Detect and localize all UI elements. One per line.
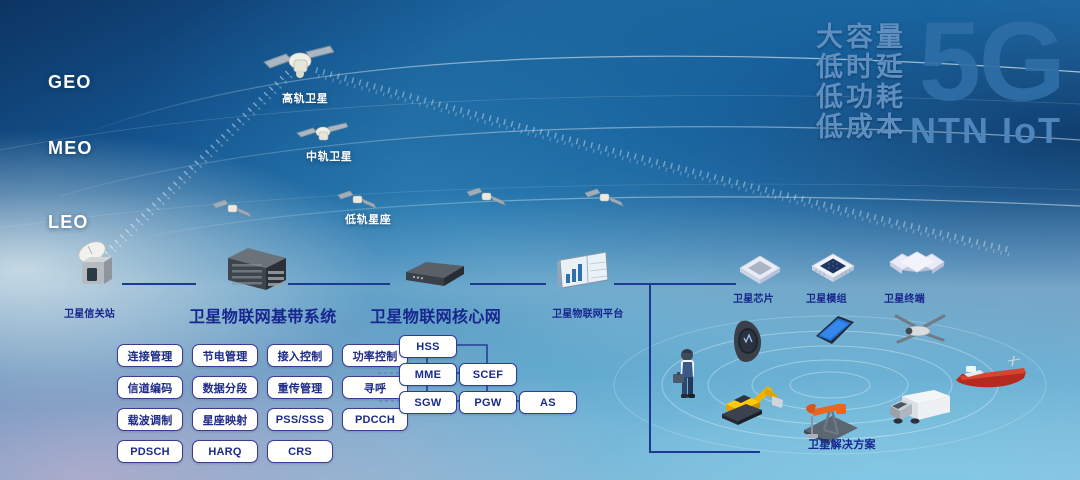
satellite-gateway-icon [66, 236, 122, 297]
tag-item[interactable]: PDSCH [117, 440, 183, 463]
hero-feature-3: 低功耗 [816, 82, 906, 112]
infographic-canvas: GEO MEO LEO 高轨卫星 中轨卫星 [0, 0, 1080, 480]
geo-satellite-icon [262, 44, 334, 91]
orbit-label-leo: LEO [48, 212, 89, 233]
core-network-label: 卫星物联网核心网 [370, 303, 501, 327]
tag-item[interactable]: 数据分段 [192, 376, 258, 399]
smartwatch-icon [728, 318, 768, 369]
geo-satellite-label: 高轨卫星 [282, 90, 328, 106]
core-node-hss[interactable]: HSS [399, 335, 457, 358]
monitor-chart-icon [556, 250, 612, 299]
hero-feature-list: 大容量 低时延 低功耗 低成本 [816, 22, 906, 142]
tag-placeholder [342, 440, 408, 463]
leo-satellite-icon-4 [584, 187, 624, 214]
smartphone-icon [812, 312, 858, 357]
chip-label: 卫星芯片 [733, 290, 774, 305]
core-node-sgw[interactable]: SGW [399, 391, 457, 414]
server-rack-icon [226, 246, 288, 301]
tag-item[interactable]: CRS [267, 440, 333, 463]
core-node-as[interactable]: AS [519, 391, 577, 414]
hero-5g-title: 5G [919, 14, 1064, 110]
meo-satellite-label: 中轨卫星 [306, 148, 352, 164]
leo-satellite-icon-3 [466, 186, 506, 213]
terminal-label: 卫星终端 [884, 290, 925, 305]
gateway-label: 卫星信关站 [64, 305, 115, 320]
baseband-feature-tags: 连接管理 节电管理 接入控制 功率控制 信道编码 数据分段 重传管理 寻呼 载波… [117, 344, 408, 463]
tag-item[interactable]: 星座映射 [192, 408, 258, 431]
hero-feature-2: 低时延 [816, 52, 906, 82]
tag-item[interactable]: 载波调制 [117, 408, 183, 431]
truck-icon [888, 384, 952, 433]
drone-icon [888, 310, 948, 355]
core-network-appliance-icon [404, 258, 466, 295]
hero-feature-4: 低成本 [816, 112, 906, 142]
chip-icon [736, 250, 784, 291]
leo-satellite-icon-1 [212, 198, 252, 225]
leo-constellation-label: 低轨星座 [345, 211, 391, 227]
hero-feature-1: 大容量 [816, 22, 906, 52]
core-node-scef[interactable]: SCEF [459, 363, 517, 386]
core-node-pgw[interactable]: PGW [459, 391, 517, 414]
core-node-mme[interactable]: MME [399, 363, 457, 386]
hero-heading: 大容量 低时延 低功耗 低成本 5G NTN IoT [816, 14, 1064, 150]
cargo-ship-icon [950, 352, 1030, 405]
solution-label: 卫星解决方案 [808, 436, 876, 452]
baseband-system-label: 卫星物联网基带系统 [189, 303, 337, 327]
tag-item[interactable]: PSS/SSS [267, 408, 333, 431]
excavator-icon [720, 378, 784, 433]
worker-person-icon [672, 346, 704, 407]
orbit-label-geo: GEO [48, 72, 92, 93]
tag-item[interactable]: HARQ [192, 440, 258, 463]
tag-item[interactable]: 接入控制 [267, 344, 333, 367]
tag-item[interactable]: 连接管理 [117, 344, 183, 367]
platform-label: 卫星物联网平台 [552, 305, 623, 320]
tag-item[interactable]: PDCCH [342, 408, 408, 431]
terminal-icon [880, 236, 954, 295]
module-icon [808, 248, 858, 291]
tag-item[interactable]: 重传管理 [267, 376, 333, 399]
hero-title-block: 5G NTN IoT [910, 14, 1064, 150]
module-label: 卫星模组 [806, 290, 847, 305]
tag-item[interactable]: 节电管理 [192, 344, 258, 367]
tag-item[interactable]: 信道编码 [117, 376, 183, 399]
orbit-label-meo: MEO [48, 138, 93, 159]
